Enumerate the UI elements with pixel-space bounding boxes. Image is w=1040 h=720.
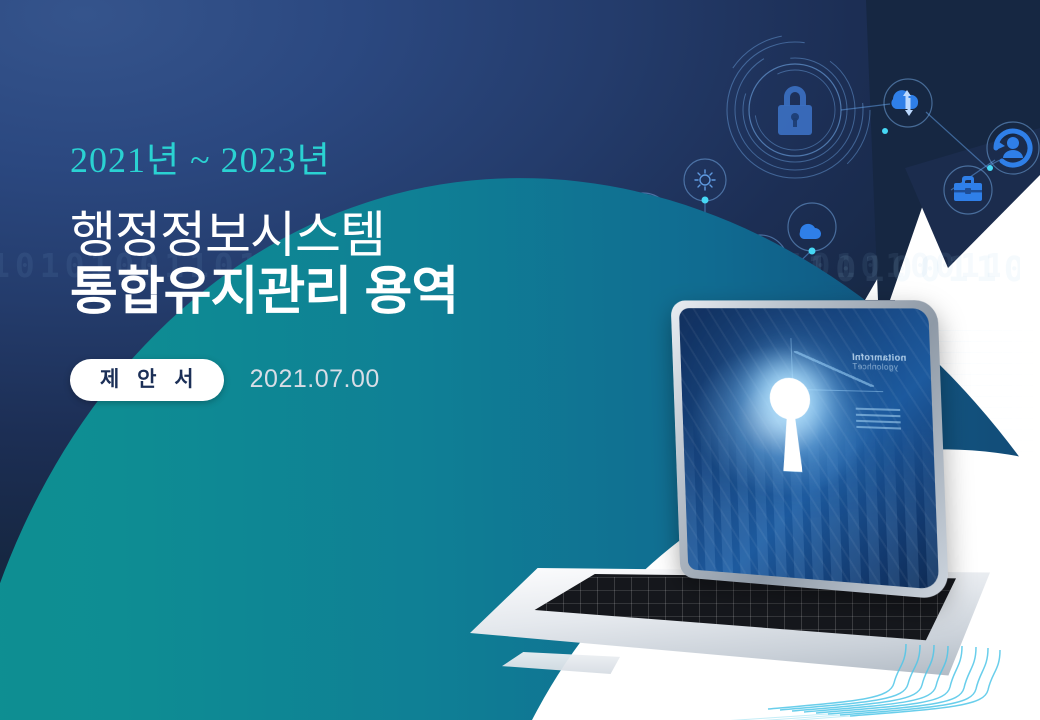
issue-date: 2021.07.00 (250, 365, 380, 394)
laptop-trackpad (502, 652, 620, 674)
proposal-badge: 제 안 서 (70, 359, 224, 401)
laptop-lid: noitamrofnI ygolonhceT (671, 300, 949, 600)
screen-bar-lines (856, 407, 901, 433)
date-range: 2021년 ~ 2023년 (70, 140, 590, 181)
laptop-screen: noitamrofnI ygolonhceT (679, 308, 939, 590)
title-line-1: 행정정보시스템 (70, 207, 590, 263)
data-stream (700, 642, 1030, 720)
screen-text-sub: ygolonhceT (852, 362, 907, 372)
hero-text-block: 2021년 ~ 2023년 행정정보시스템 통합유지관리 용역 제 안 서 20… (70, 140, 590, 401)
banner-canvas: 1010100110101001101010011010100110101001… (0, 0, 1040, 720)
title-line-2: 통합유지관리 용역 (70, 263, 590, 322)
screen-reversed-text: noitamrofnI ygolonhceT (851, 352, 906, 372)
meta-row: 제 안 서 2021.07.00 (70, 359, 590, 401)
